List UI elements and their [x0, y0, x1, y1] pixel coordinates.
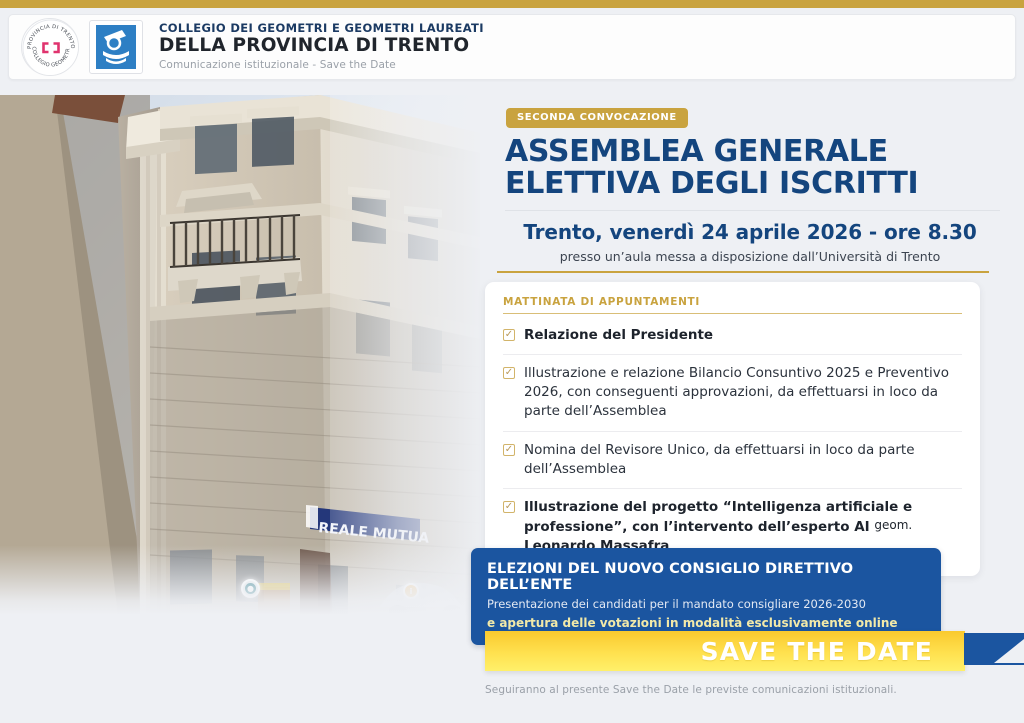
announcement-content: SECONDA CONVOCAZIONE ASSEMBLEA GENERALE …	[480, 95, 1024, 723]
event-date-block: Trento, venerdì 24 aprile 2026 - ore 8.3…	[480, 220, 1020, 264]
checkbox-checked-icon[interactable]: ✓	[503, 501, 515, 513]
event-date: Trento, venerdì 24 aprile 2026 - ore 8.3…	[480, 220, 1020, 244]
page-title-line-1: ASSEMBLEA GENERALE	[505, 136, 1005, 168]
elections-title: ELEZIONI DEL NUOVO CONSIGLIO DIRETTIVO D…	[487, 561, 925, 593]
event-venue: presso un’aula messa a disposizione dall…	[480, 249, 1020, 264]
header-line-2: DELLA PROVINCIA DI TRENTO	[159, 36, 484, 57]
blue-flag-decoration-icon	[964, 631, 1024, 671]
seconda-convocazione-badge: SECONDA CONVOCAZIONE	[506, 108, 688, 128]
collegio-seal-icon: PROVINCIA DI TRENTO COLLEGIO GEOMETRI	[21, 18, 79, 76]
geometri-emblem-icon	[89, 20, 143, 74]
checkbox-checked-icon[interactable]: ✓	[503, 367, 515, 379]
agenda-item[interactable]: ✓ Illustrazione e relazione Bilancio Con…	[503, 355, 962, 431]
header-line-1: COLLEGIO DEI GEOMETRI E GEOMETRI LAUREAT…	[159, 22, 484, 35]
save-the-date-banner: SAVE THE DATE	[485, 631, 1024, 673]
institutional-header: PROVINCIA DI TRENTO COLLEGIO GEOMETRI	[8, 14, 1016, 80]
elections-subtitle: Presentazione dei candidati per il manda…	[487, 597, 925, 611]
agenda-item-label: Nomina del Revisore Unico, da effettuars…	[524, 441, 962, 479]
agenda-item-text-before: Illustrazione del progetto “Intelligenza…	[524, 499, 912, 535]
photo-right-fade	[330, 95, 480, 615]
save-the-date-bar: SAVE THE DATE	[485, 631, 965, 671]
agenda-item[interactable]: ✓ Nomina del Revisore Unico, da effettua…	[503, 432, 962, 489]
checkbox-checked-icon[interactable]: ✓	[503, 329, 515, 341]
building-photo: REALE MUTUA	[0, 95, 480, 615]
agenda-card: MATTINATA DI APPUNTAMENTI ✓ Relazione de…	[485, 282, 980, 576]
page-title: ASSEMBLEA GENERALE ELETTIVA DEGLI ISCRIT…	[505, 136, 1005, 199]
save-the-date-label: SAVE THE DATE	[701, 637, 933, 666]
checkbox-checked-icon[interactable]: ✓	[503, 444, 515, 456]
agenda-item-title-abbrev: geom.	[874, 518, 912, 532]
agenda-heading: MATTINATA DI APPUNTAMENTI	[503, 296, 962, 314]
header-titles: COLLEGIO DEI GEOMETRI E GEOMETRI LAUREAT…	[159, 22, 484, 71]
title-divider	[505, 210, 1000, 211]
footer-note: Seguiranno al presente Save the Date le …	[485, 684, 1005, 696]
photo-bottom-fade	[0, 545, 480, 615]
header-subtitle: Comunicazione istituzionale - Save the D…	[159, 60, 484, 72]
agenda-item-label: Illustrazione e relazione Bilancio Consu…	[524, 364, 962, 421]
save-the-date-page: PROVINCIA DI TRENTO COLLEGIO GEOMETRI	[0, 0, 1024, 723]
date-gold-divider	[497, 271, 989, 273]
elections-highlight: e apertura delle votazioni in modalità e…	[487, 616, 925, 630]
page-title-line-2: ELETTIVA DEGLI ISCRITTI	[505, 168, 1005, 200]
agenda-item[interactable]: ✓ Relazione del Presidente	[503, 317, 962, 355]
top-gold-rule	[0, 0, 1024, 8]
agenda-item-label: Relazione del Presidente	[524, 326, 713, 345]
